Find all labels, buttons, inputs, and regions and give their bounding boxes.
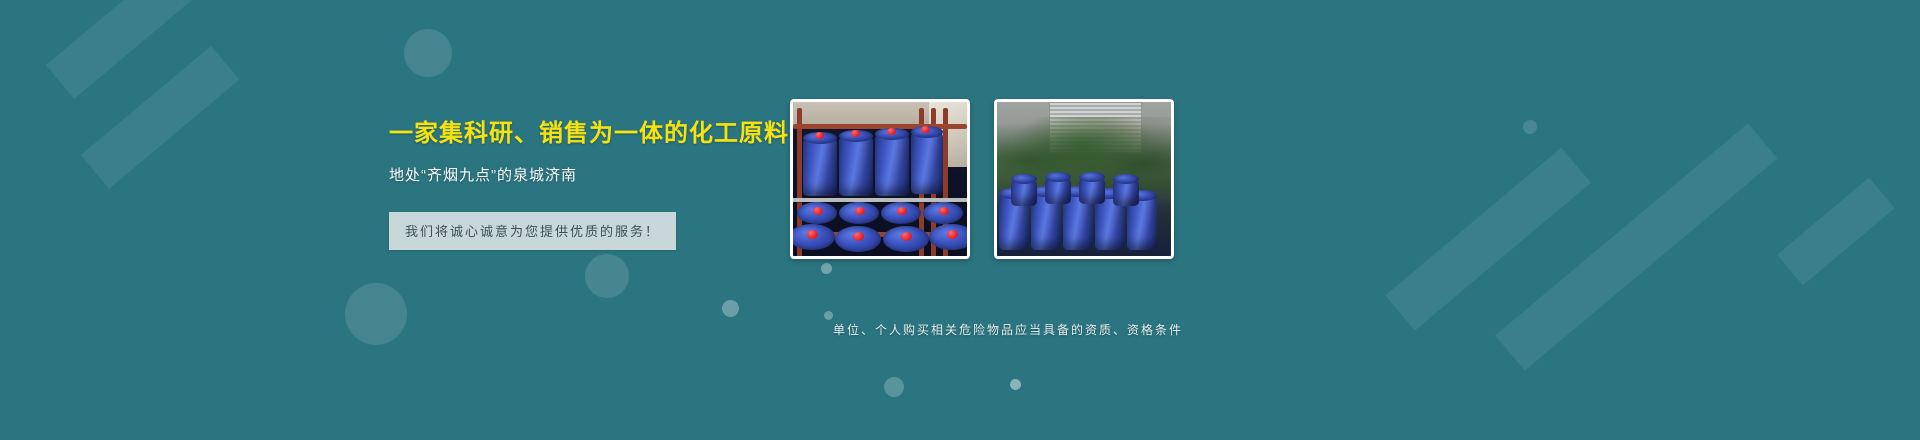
diagonal-stripe-top-left-2 — [81, 46, 240, 189]
decorative-circle-3 — [345, 283, 407, 345]
decorative-circle-5 — [821, 263, 832, 274]
promo-banner: 一家集科研、销售为一体的化工原料公司 地处“齐烟九点”的泉城济南 我们将诚心诚意… — [0, 0, 1920, 440]
decorative-circle-6 — [824, 311, 833, 320]
diagonal-stripe-bottom-right-3 — [1777, 178, 1895, 286]
decorative-circle-1 — [404, 29, 452, 77]
diagonal-stripe-top-left-1 — [46, 0, 304, 99]
service-cta-button[interactable]: 我们将诚心诚意为您提供优质的服务！ — [389, 212, 676, 250]
photo-blue-chemical-drums-outdoors-by-building[interactable] — [994, 99, 1174, 259]
banner-headline: 一家集科研、销售为一体的化工原料公司 — [389, 118, 769, 149]
banner-subtitle: 地处“齐烟九点”的泉城济南 — [389, 165, 769, 186]
diagonal-stripe-bottom-right-2 — [1495, 123, 1777, 370]
hazardous-goods-notice: 单位、个人购买相关危险物品应当具备的资质、资格条件 — [833, 321, 1183, 338]
decorative-circle-9 — [1523, 120, 1537, 134]
decorative-circle-7 — [884, 377, 904, 397]
banner-text-block: 一家集科研、销售为一体的化工原料公司 地处“齐烟九点”的泉城济南 我们将诚心诚意… — [389, 118, 769, 250]
decorative-circle-8 — [1010, 379, 1021, 390]
decorative-circle-4 — [722, 300, 739, 317]
photo-blue-chemical-drums-stacked-in-red-rack[interactable] — [790, 99, 970, 259]
decorative-circle-2 — [585, 254, 629, 298]
diagonal-stripe-bottom-right-1 — [1385, 148, 1591, 331]
